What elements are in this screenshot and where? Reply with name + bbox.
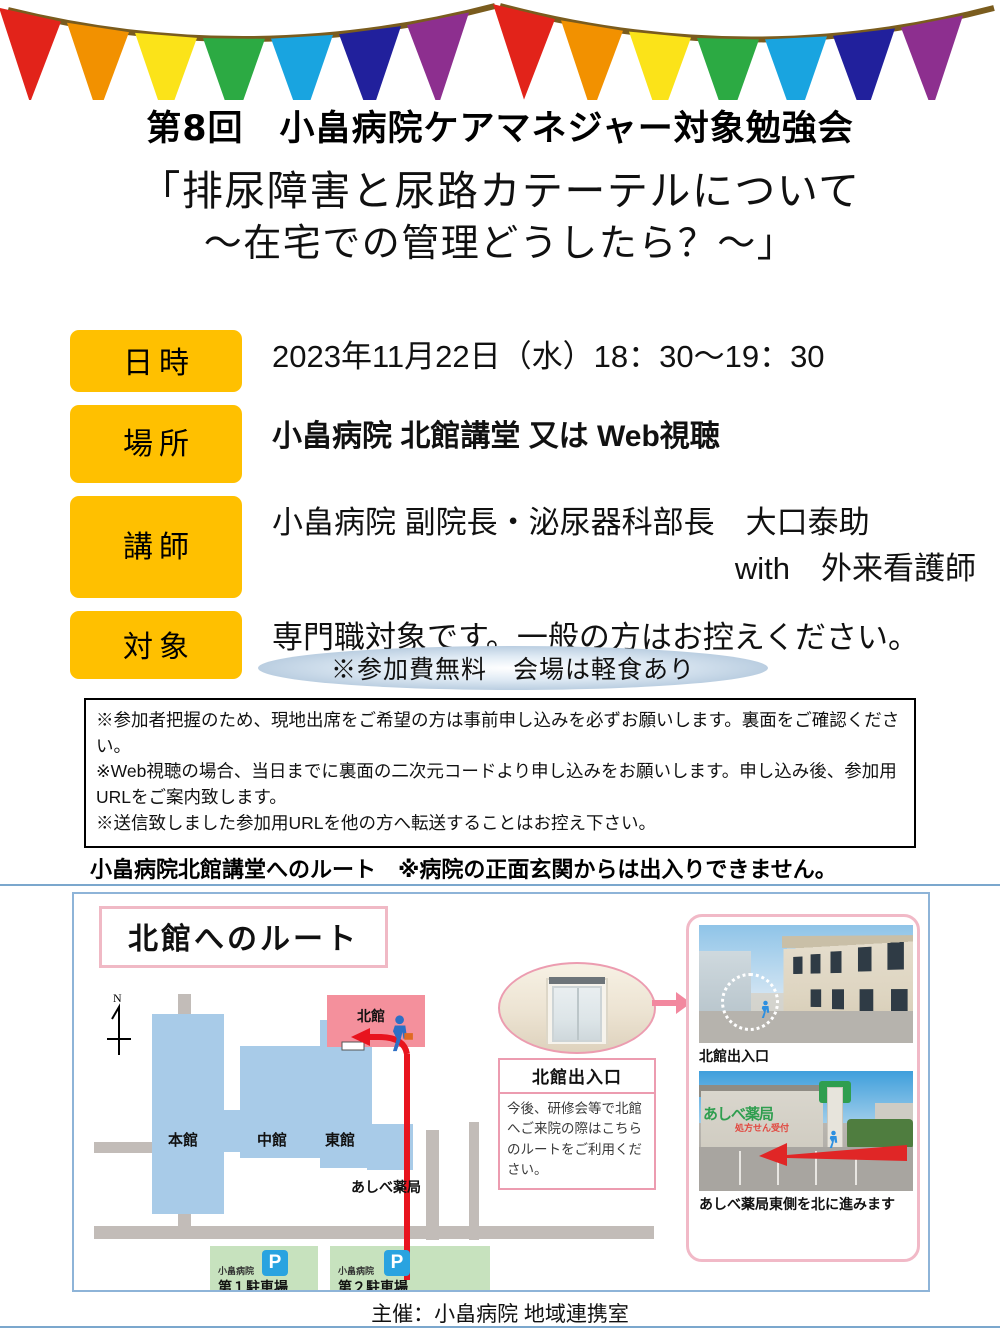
road-vertical-east [469, 1122, 479, 1240]
value-speaker-main: 小畠病院 副院長・泌尿器科部長 大口泰助 [272, 505, 870, 540]
map-title-text: 北館へのルート [128, 922, 359, 957]
footer-organizer: 主催：小畠病院 地域連携室 [0, 1298, 1000, 1328]
value-speaker-sub: with 外来看護師 [272, 548, 1000, 590]
info-row-datetime: 日時 2023年11月22日（水）18：30〜19：30 [0, 330, 1000, 392]
entrance-callout-title-box: 北館出入口 [498, 1058, 656, 1094]
map-label-pharmacy: あしべ薬局 [351, 1177, 421, 1197]
value-venue: 小畠病院 北館講堂 又は Web視聴 [242, 405, 1000, 458]
bunting-flag [271, 35, 333, 100]
photo-a-window [858, 947, 872, 972]
divider-top [0, 884, 1000, 886]
map-label-toukan: 東館 [325, 1129, 355, 1150]
photo-a-window [860, 989, 874, 1012]
entrance-callout: 北館出入口 今後、研修会等で北館へご来院の際はこちらのルートをご利用ください。 [498, 962, 656, 1190]
photo-a-person-icon [761, 999, 770, 1019]
info-row-venue: 場所 小畠病院 北館講堂 又は Web視聴 [0, 405, 1000, 483]
photo-a-window [811, 989, 822, 1007]
bunting-flag [0, 8, 61, 100]
photo-a-window [832, 989, 844, 1009]
free-admission-banner: ※参加費無料 会場は軽食あり [258, 646, 768, 690]
bunting-flag [203, 38, 265, 100]
event-info-table: 日時 2023年11月22日（水）18：30〜19：30 場所 小畠病院 北館講… [0, 330, 1000, 692]
entrance-callout-title: 北館出入口 [532, 1068, 622, 1088]
photo-kitakan-exterior [699, 925, 913, 1043]
route-map-panel: 北館へのルート N 本館 中館 東館 北館 あしべ薬局 小畠病院 第１駐車場 P… [72, 892, 930, 1292]
label-target: 対象 [70, 611, 242, 679]
entrance-door-photo [498, 962, 656, 1054]
map-label-kitakan: 北館 [357, 1006, 385, 1026]
bunting-flag [765, 36, 827, 100]
photo-b-parking-line [739, 1151, 741, 1185]
note-line-3: ※送信致しました参加用URLを他の方へ転送することはお控え下さい。 [96, 811, 904, 837]
bunting-flag [67, 23, 129, 100]
compass-icon: N [99, 989, 139, 1059]
compass-svg: N [99, 989, 139, 1059]
parking-2-name: 第２駐車場 [338, 1277, 408, 1292]
free-admission-text: ※参加費無料 会場は軽食あり [331, 650, 695, 686]
bunting-flag [561, 20, 623, 100]
bunting-svg [0, 0, 1000, 100]
label-speaker: 講師 [70, 496, 242, 598]
label-datetime: 日時 [70, 330, 242, 392]
photo-b-person-icon [829, 1129, 838, 1149]
entrance-callout-body: 今後、研修会等で北館へご来院の際はこちらのルートをご利用ください。 [507, 1099, 647, 1180]
map-label-honkan: 本館 [168, 1129, 198, 1150]
photo-a-highlight-circle [721, 973, 779, 1031]
bunting-flag [339, 26, 401, 100]
label-venue: 場所 [70, 405, 242, 483]
info-row-speaker: 講師 小畠病院 副院長・泌尿器科部長 大口泰助 with 外来看護師 [0, 496, 1000, 598]
value-datetime: 2023年11月22日（水）18：30〜19：30 [242, 330, 1000, 378]
photo-pharmacy-street: あしべ薬局 処方せん受付 [699, 1071, 913, 1191]
map-title-box: 北館へのルート [99, 906, 388, 968]
map-label-chukan: 中館 [257, 1129, 287, 1150]
kitakan-entrance-marker [342, 1042, 364, 1050]
bunting-flag [135, 33, 197, 100]
bunting-flag [407, 12, 469, 100]
route-photo-panel: 北館出入口 あしべ薬局 処方せん受付 [686, 914, 920, 1262]
note-line-1: ※参加者把握のため、現地出席をご希望の方は事前申し込みを必ずお願いします。裏面を… [96, 708, 904, 759]
photo-a-window [793, 957, 802, 975]
heading-block: 第8回 小畠病院ケアマネジャー対象勉強会 「排尿障害と尿路カテーテルについて 〜… [0, 108, 1000, 271]
series-title: 第8回 小畠病院ケアマネジャー対象勉強会 [0, 108, 1000, 150]
lecture-title-line1: 「排尿障害と尿路カテーテルについて [139, 168, 860, 214]
route-heading: 小畠病院北館講堂へのルート ※病院の正面玄関からは出入りできません。 [90, 852, 837, 884]
door-split-line [577, 988, 579, 1040]
photo-b-caption: あしべ薬局東側を北に進みます [699, 1191, 907, 1219]
bunting-flag [629, 32, 691, 100]
lecture-title: 「排尿障害と尿路カテーテルについて 〜在宅での管理どうしたら？〜」 [0, 164, 1000, 271]
photo-a-window [887, 942, 903, 970]
lecture-title-line2: 〜在宅での管理どうしたら？〜」 [0, 219, 1000, 270]
value-speaker: 小畠病院 副院長・泌尿器科部長 大口泰助 with 外来看護師 [242, 496, 1000, 590]
notes-box: ※参加者把握のため、現地出席をご希望の方は事前申し込みを必ずお願いします。裏面を… [84, 698, 916, 848]
bunting-decoration [0, 0, 1000, 100]
divider-bottom [0, 1326, 1000, 1328]
photo-b-shop-sign-red: 処方せん受付 [735, 1121, 789, 1134]
note-line-2: ※Web視聴の場合、当日までに裏面の二次元コードより申し込みをお願いします。申し… [96, 759, 904, 810]
entrance-callout-body-box: 今後、研修会等で北館へご来院の際はこちらのルートをご利用ください。 [498, 1094, 656, 1190]
bunting-flag [493, 4, 555, 99]
flyer-page: 第8回 小畠病院ケアマネジャー対象勉強会 「排尿障害と尿路カテーテルについて 〜… [0, 0, 1000, 1333]
parking-1-name: 第１駐車場 [218, 1277, 288, 1292]
photo-a-window [811, 954, 821, 974]
parking-icon-1: P [262, 1250, 288, 1276]
road-vertical-mid [426, 1130, 439, 1240]
bunting-flag [833, 28, 895, 100]
compass-north-label: N [113, 991, 122, 1005]
parking-icon-2: P [384, 1250, 410, 1276]
building-honkan-shape [152, 1014, 240, 1214]
photo-a-caption: 北館出入口 [699, 1043, 907, 1071]
door-header-panel [549, 977, 605, 984]
photo-a-window [830, 951, 841, 973]
bunting-flag [697, 38, 759, 100]
bunting-flag [901, 16, 963, 100]
